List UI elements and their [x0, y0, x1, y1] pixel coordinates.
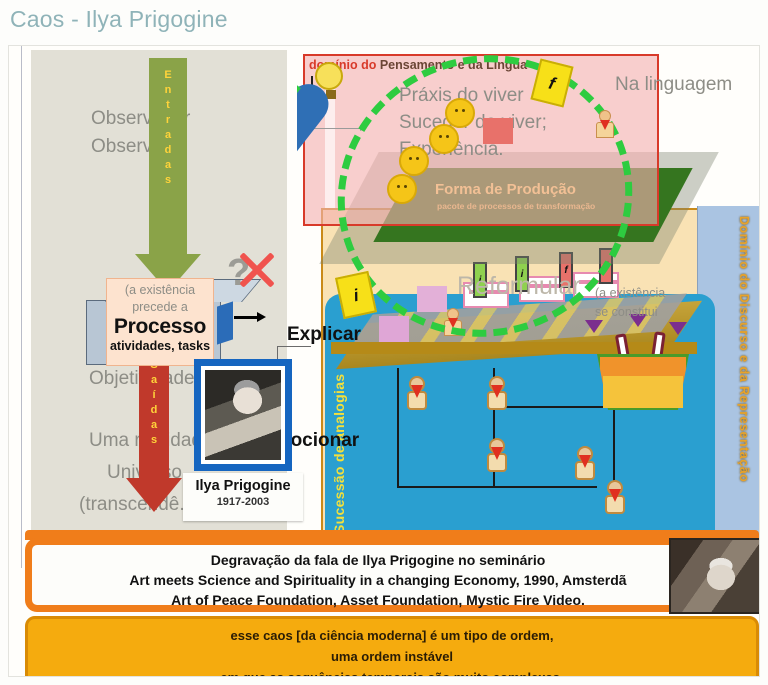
red-x-icon [236, 250, 276, 290]
quote-callout: esse caos [da ciência moderna] é um tipo… [25, 616, 759, 677]
photo-caption: Ilya Prigogine 1917-2003 [183, 473, 303, 521]
wire [493, 406, 613, 408]
saidas-label: Saídas [139, 358, 169, 448]
slide-root: Caos - Ilya Prigogine Observador Observa… [0, 0, 768, 685]
explicar-text: Explicar [287, 324, 361, 345]
label-dominio-representacao: Domínio do Discurso e da Representação [701, 216, 751, 526]
person-icon [573, 446, 597, 480]
brace-line [277, 346, 311, 347]
smiley-icon [387, 174, 417, 204]
person-icon [405, 376, 429, 410]
existencia-line2: se constitui [595, 303, 705, 322]
source-callout: Degravação da fala de Ilya Prigogine no … [25, 538, 731, 612]
label-existencia-constitui: (a existência se constitui [595, 284, 705, 322]
quote-line-3: em que as sequências temporais são muito… [28, 667, 756, 677]
entradas-arrow: Entradas [149, 58, 187, 254]
caption-years: 1917-2003 [183, 495, 303, 509]
process-line1: (a existência [107, 282, 213, 299]
wire [397, 486, 597, 488]
table-edge [331, 342, 697, 354]
lightbulb-icon [315, 62, 343, 90]
process-subtitle: atividades, tasks [107, 338, 213, 354]
process-title: Processo [107, 316, 213, 338]
process-label-card: (a existência precede a Processo ativida… [106, 278, 214, 366]
photo-frame [201, 366, 285, 464]
smiley-icon [399, 146, 429, 176]
blue-tab-icon [217, 301, 233, 344]
label-na-linguagem: Na linguagem [615, 74, 732, 96]
prigogine-photo-card [194, 359, 292, 471]
slide-content-frame: Observador Observar Entradas ? (a existê… [8, 45, 760, 677]
output-arrow-icon [234, 316, 258, 319]
basket-body [603, 376, 683, 408]
source-line-1: Degravação da fala de Ilya Prigogine no … [32, 550, 724, 570]
left-edge-line [21, 46, 22, 568]
wire [397, 368, 399, 488]
webcam-thumbnail[interactable] [669, 538, 760, 614]
quote-line-1: esse caos [da ciência moderna] é um tipo… [28, 625, 756, 646]
existencia-line1: (a existência [595, 284, 705, 303]
caption-name: Ilya Prigogine [183, 477, 303, 495]
smiley-icon [445, 98, 475, 128]
person-icon [595, 110, 615, 138]
cube-icon [379, 316, 409, 342]
source-line-3: Art of Peace Foundation, Asset Foundatio… [32, 590, 724, 610]
cube-icon [483, 118, 513, 144]
source-line-2: Art meets Science and Spirituality in a … [32, 570, 724, 590]
smiley-icon [429, 124, 459, 154]
person-icon [485, 376, 509, 410]
prigogine-portrait [205, 370, 281, 460]
label-explicar: Explicar [287, 324, 361, 346]
entradas-label: Entradas [149, 68, 187, 188]
wire [613, 406, 615, 490]
page-title: Caos - Ilya Prigogine [10, 6, 228, 33]
saidas-arrow: Saídas [139, 348, 169, 478]
quote-line-2: uma ordem instável [28, 646, 756, 667]
triangle-icon [669, 322, 687, 335]
person-icon [603, 480, 627, 514]
person-icon [485, 438, 509, 472]
complex-diagram: Domínio do Discurso e da Representação S… [297, 46, 759, 540]
process-line2: precede a [107, 299, 213, 316]
